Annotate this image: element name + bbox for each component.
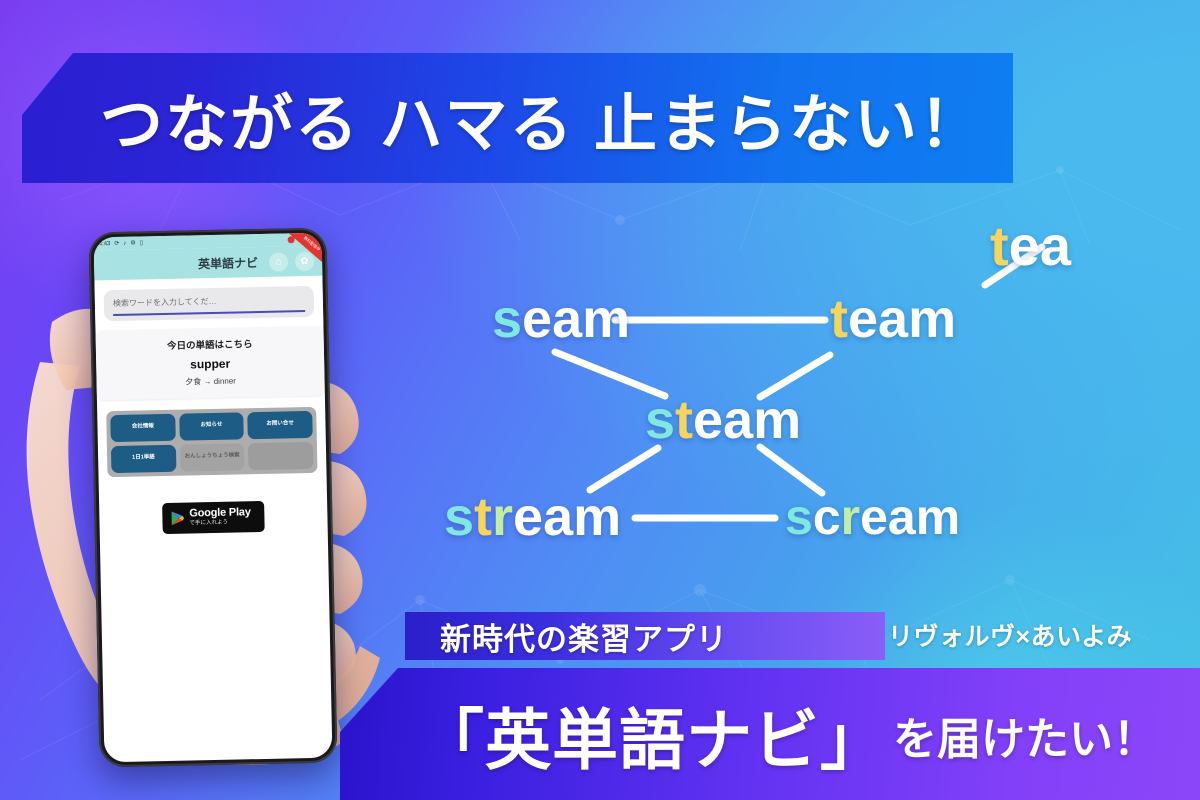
- music-note-icon: ♪: [123, 240, 126, 246]
- settings-icon: ⚙: [130, 240, 136, 247]
- statusbar-time: 4:43: [99, 241, 111, 247]
- search-placeholder: 検索ワードを入力してくだ…: [113, 294, 305, 309]
- gear-icon[interactable]: ✿: [295, 251, 314, 270]
- daily-word-heading: 今日の単語はこちら: [102, 334, 318, 353]
- phone-body: 4:43 ⟳ ♪ ⚙ ▯ ▾ ▮ 98 英単語ナビ ⌂ ✿: [88, 228, 337, 768]
- tagline-badge-text: 新時代の楽習アプリ: [440, 615, 870, 657]
- network-node-team: team: [830, 292, 956, 346]
- network-node-tea: tea: [990, 218, 1071, 274]
- menu-button-search-dic[interactable]: おんしょうちょう検索: [180, 443, 245, 471]
- search-input[interactable]: 検索ワードを入力してくだ…: [104, 286, 315, 321]
- search-zone: 検索ワードを入力してくだ…: [94, 276, 323, 330]
- daily-word-card: 今日の単語はこちら supper 夕食 → dinner: [95, 325, 324, 400]
- menu-button-daily[interactable]: 1日1単語: [111, 444, 176, 472]
- footer-title-tail: を届けたい！: [893, 703, 1157, 767]
- menu-button-company[interactable]: 会社情報: [110, 413, 175, 441]
- play-badge-sub: で手に入れよう: [189, 520, 250, 527]
- google-play-button[interactable]: Google Play で手に入れよう: [162, 500, 265, 533]
- menu-button-grid: 会社情報 お知らせ お問い合せ 1日1単語 おんしょうちょう検索: [106, 406, 317, 476]
- daily-word-meaning: 夕食 → dinner: [102, 373, 318, 389]
- network-node-stream: stream: [444, 490, 621, 544]
- play-badge-main: Google Play: [189, 507, 251, 519]
- phone-screen: 4:43 ⟳ ♪ ⚙ ▯ ▾ ▮ 98 英単語ナビ ⌂ ✿: [94, 233, 333, 763]
- menu-button-contact[interactable]: お問い合せ: [248, 410, 313, 438]
- app-title: 英単語ナビ: [198, 254, 258, 272]
- promo-banner: つながる ハマる 止まらない！ tea seam team steam stre…: [0, 0, 1200, 800]
- network-node-seam: seam: [492, 292, 630, 346]
- edge-steam-scream: [760, 447, 822, 493]
- sync-icon: ⟳: [114, 240, 119, 247]
- search-underline: [113, 310, 305, 316]
- footer-title-main: 「英単語ナビ」: [418, 687, 887, 783]
- sim-icon: ▯: [140, 239, 143, 246]
- word-network: tea seam team steam stream scream: [430, 200, 1130, 580]
- daily-word-value: supper: [102, 354, 318, 373]
- home-icon[interactable]: ⌂: [269, 252, 288, 271]
- network-node-scream: scream: [785, 492, 960, 542]
- footer-title: 「英単語ナビ」 を届けたい！: [418, 676, 1178, 794]
- menu-button-empty: [248, 441, 313, 469]
- play-badge-zone: Google Play で手に入れよう: [99, 472, 328, 535]
- menu-button-news[interactable]: お知らせ: [179, 412, 244, 440]
- headline-text: つながる ハマる 止まらない！: [100, 70, 1000, 168]
- network-node-steam: steam: [645, 393, 801, 447]
- google-play-icon: [170, 510, 184, 525]
- edge-steam-stream: [590, 448, 658, 490]
- phone-mockup: 4:43 ⟳ ♪ ⚙ ▯ ▾ ▮ 98 英単語ナビ ⌂ ✿: [64, 222, 384, 782]
- partner-credit: リヴォルヴ×あいよみ: [888, 617, 1132, 653]
- phone-appbar: 英単語ナビ ⌂ ✿ 無料配信中: [94, 246, 323, 281]
- menu-grid-zone: 会社情報 お知らせ お問い合せ 1日1単語 おんしょうちょう検索: [97, 395, 327, 477]
